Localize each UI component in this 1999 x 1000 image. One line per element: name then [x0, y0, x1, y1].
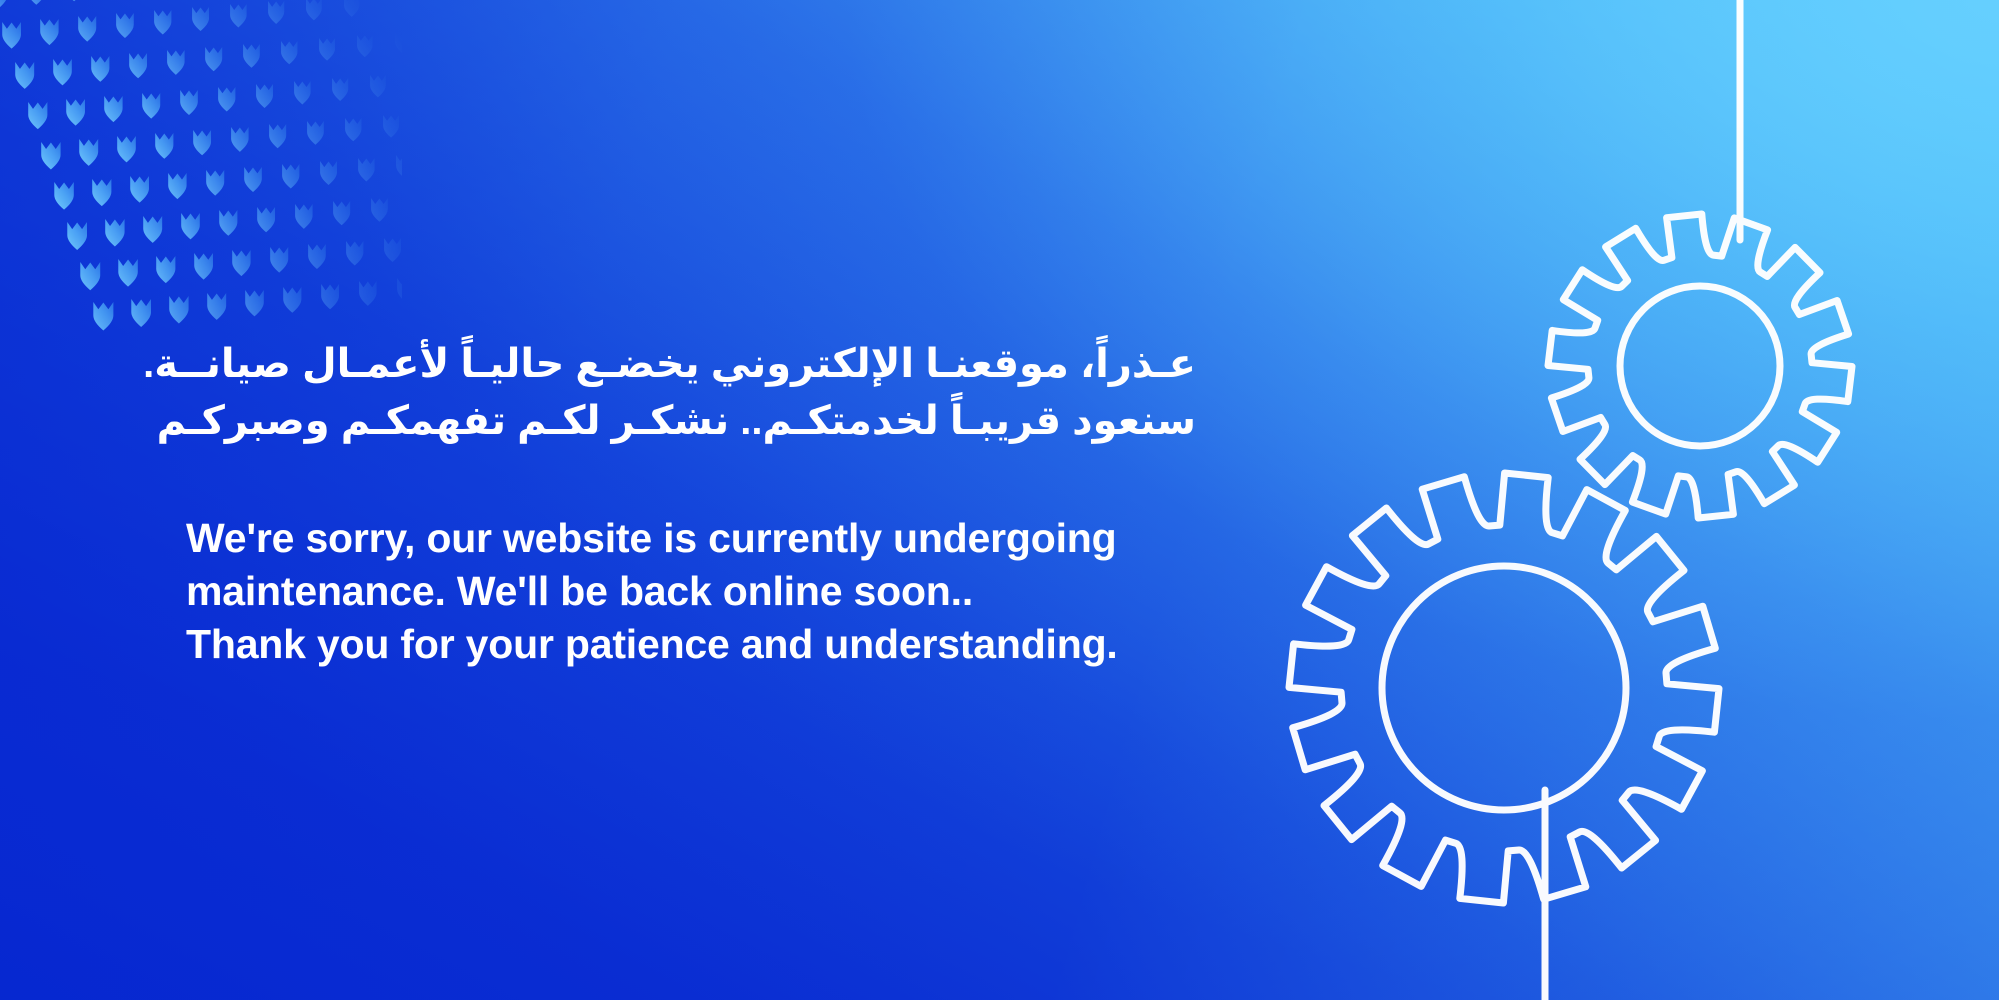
english-message: We're sorry, our website is currently un…	[186, 512, 1196, 672]
arabic-line-2: سنعود قريبـاً لخدمتكـم.. نشكـر لكـم تفهم…	[186, 393, 1196, 450]
maintenance-page: عـذراً، موقعنـا الإلكتروني يخضـع حاليـاً…	[0, 0, 1999, 1000]
english-line-3: Thank you for your patience and understa…	[186, 618, 1196, 671]
arabic-line-1: عـذراً، موقعنـا الإلكتروني يخضـع حاليـاً…	[186, 336, 1196, 393]
english-line-2: maintenance. We'll be back online soon..	[186, 565, 1196, 618]
arabic-message: عـذراً، موقعنـا الإلكتروني يخضـع حاليـاً…	[186, 336, 1196, 450]
english-line-1: We're sorry, our website is currently un…	[186, 512, 1196, 565]
maintenance-message: عـذراً، موقعنـا الإلكتروني يخضـع حاليـاً…	[186, 336, 1196, 671]
